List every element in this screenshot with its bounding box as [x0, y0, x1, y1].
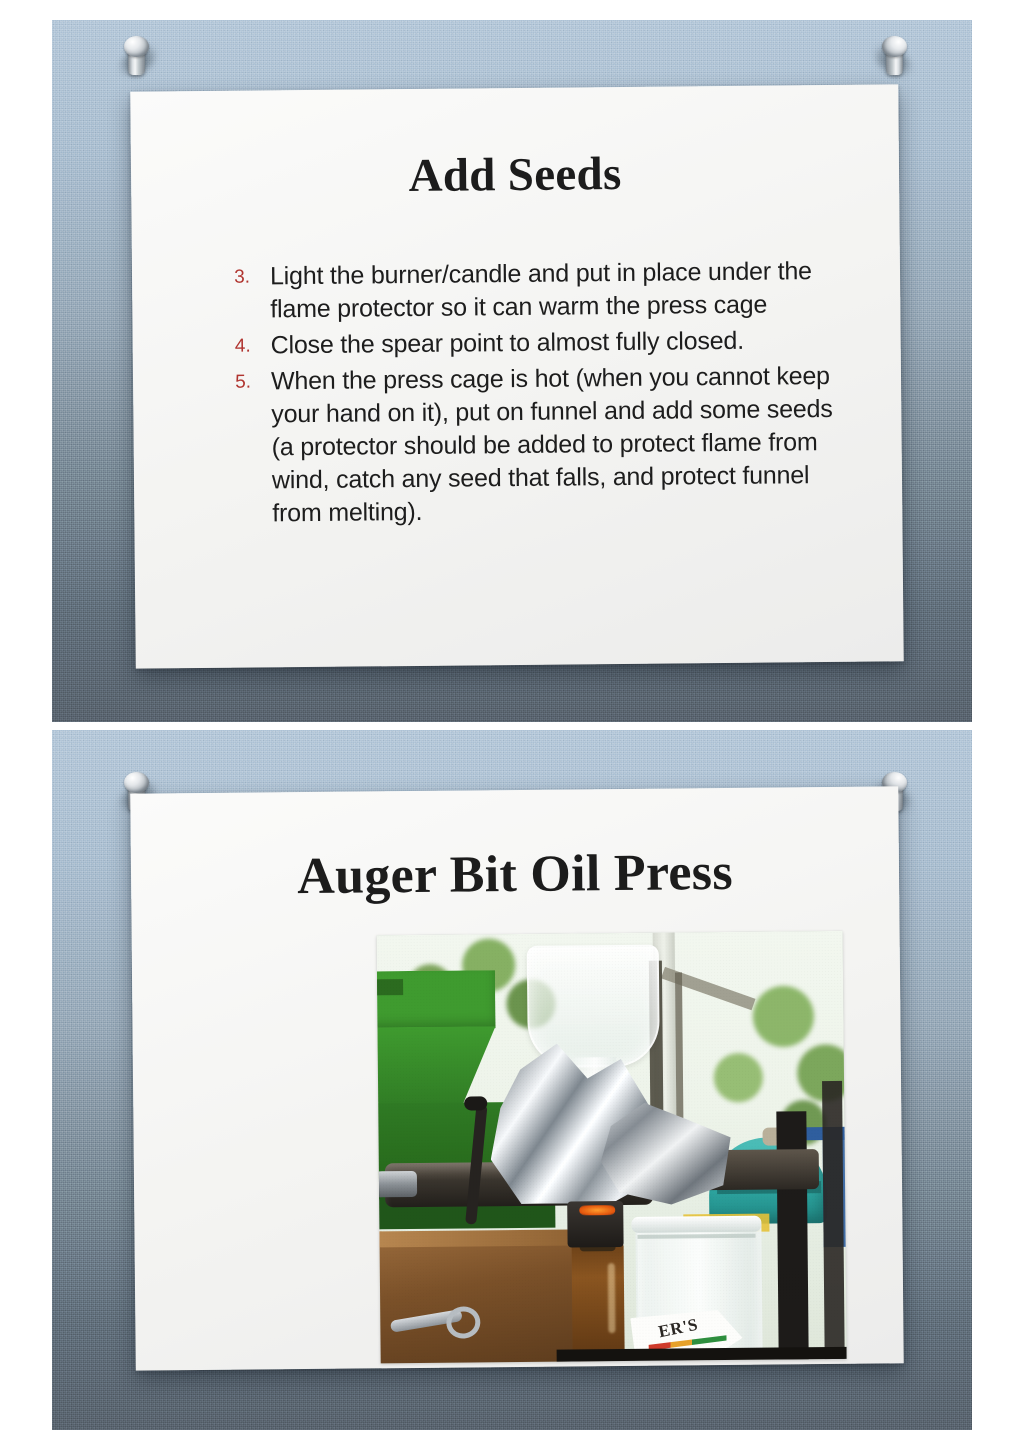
list-item-number: 4. [205, 329, 271, 363]
list-item-number: 5. [205, 365, 271, 399]
photo-content: ER'S [377, 931, 847, 1363]
oil-press-photo: ER'S [377, 931, 847, 1363]
list-item-text: Close the spear point to almost fully cl… [271, 324, 855, 363]
numbered-instruction-list: 3. Light the burner/candle and put in pl… [204, 255, 857, 534]
page-title: Auger Bit Oil Press [131, 842, 900, 907]
slide-deck: Add Seeds 3. Light the burner/candle and… [0, 0, 1024, 1449]
list-item: 3. Light the burner/candle and put in pl… [204, 255, 855, 327]
slide-add-seeds: Add Seeds 3. Light the burner/candle and… [52, 20, 972, 722]
slide-card: Add Seeds 3. Light the burner/candle and… [130, 84, 904, 668]
pushpin-icon [120, 34, 154, 82]
list-item: 5. When the press cage is hot (when you … [205, 360, 857, 531]
slide-auger-bit-oil-press: Auger Bit Oil Press [52, 730, 972, 1430]
list-item: 4. Close the spear point to almost fully… [205, 324, 855, 363]
list-item-text: When the press cage is hot (when you can… [271, 360, 857, 531]
list-item-text: Light the burner/candle and put in place… [270, 255, 855, 327]
slide-card: Auger Bit Oil Press [130, 786, 904, 1370]
page-title: Add Seeds [131, 146, 899, 205]
list-item-number: 3. [204, 260, 270, 294]
pushpin-icon [877, 34, 911, 82]
